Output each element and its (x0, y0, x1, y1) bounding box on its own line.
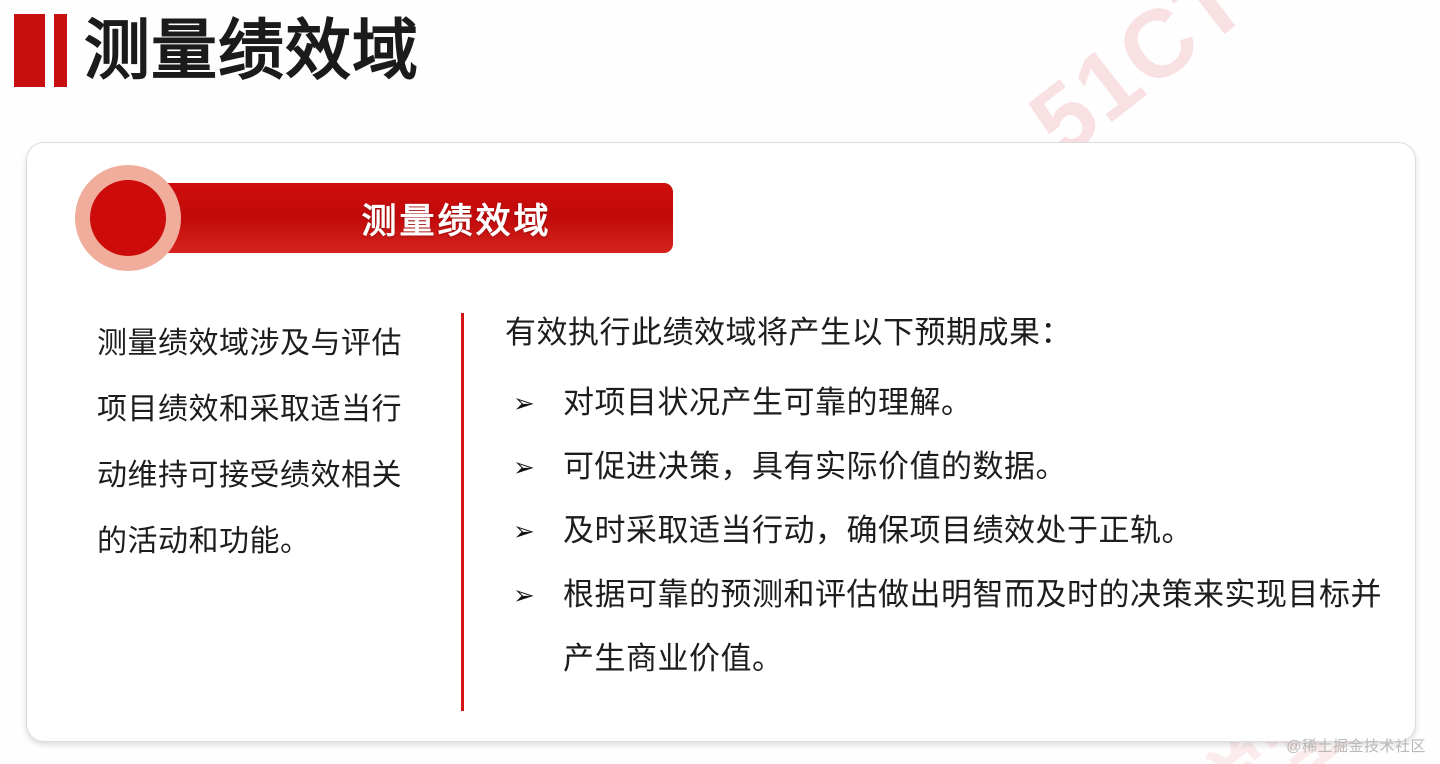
list-item-label: 可促进决策，具有实际价值的数据。 (563, 435, 1395, 499)
section-banner: 测量绩效域 (75, 165, 805, 263)
content-card: 测量绩效域 测量绩效域涉及与评估项目绩效和采取适当行动维持可接受绩效相关的活动和… (26, 142, 1416, 742)
list-item: ➢ 可促进决策，具有实际价值的数据。 (505, 435, 1395, 499)
banner-ring-icon (75, 165, 181, 271)
list-item: ➢ 对项目状况产生可靠的理解。 (505, 371, 1395, 435)
arrow-bullet-icon: ➢ (505, 563, 563, 627)
page-title: 测量绩效域 (84, 9, 419, 91)
banner-bar: 测量绩效域 (128, 183, 673, 253)
banner-label: 测量绩效域 (361, 193, 551, 244)
arrow-bullet-icon: ➢ (505, 371, 563, 435)
page-header: 测量绩效域 (0, 0, 1440, 125)
arrow-bullet-icon: ➢ (505, 435, 563, 499)
list-item-label: 及时采取适当行动，确保项目绩效处于正轨。 (563, 499, 1395, 563)
list-item-label: 对项目状况产生可靠的理解。 (563, 371, 1395, 435)
slide-root: 51CTO 学堂 学堂 学堂 学堂 测量绩效域 测量绩效域 测量绩效域涉及与评估… (0, 0, 1440, 764)
banner-dot-icon (90, 180, 166, 256)
list-item: ➢ 根据可靠的预测和评估做出明智而及时的决策来实现目标并产生商业价值。 (505, 563, 1395, 691)
outcomes-lead: 有效执行此绩效域将产生以下预期成果： (505, 303, 1395, 363)
title-accent-bars (14, 14, 67, 87)
accent-bar-thin-icon (54, 14, 67, 87)
arrow-bullet-icon: ➢ (505, 499, 563, 563)
footer-credit: @稀土掘金技术社区 (1286, 735, 1426, 756)
definition-text: 测量绩效域涉及与评估项目绩效和采取适当行动维持可接受绩效相关的活动和功能。 (97, 311, 417, 575)
outcomes-column: 有效执行此绩效域将产生以下预期成果： ➢ 对项目状况产生可靠的理解。 ➢ 可促进… (505, 303, 1395, 691)
accent-bar-wide-icon (14, 14, 45, 87)
list-item: ➢ 及时采取适当行动，确保项目绩效处于正轨。 (505, 499, 1395, 563)
column-divider (461, 313, 464, 711)
list-item-label: 根据可靠的预测和评估做出明智而及时的决策来实现目标并产生商业价值。 (563, 563, 1395, 691)
